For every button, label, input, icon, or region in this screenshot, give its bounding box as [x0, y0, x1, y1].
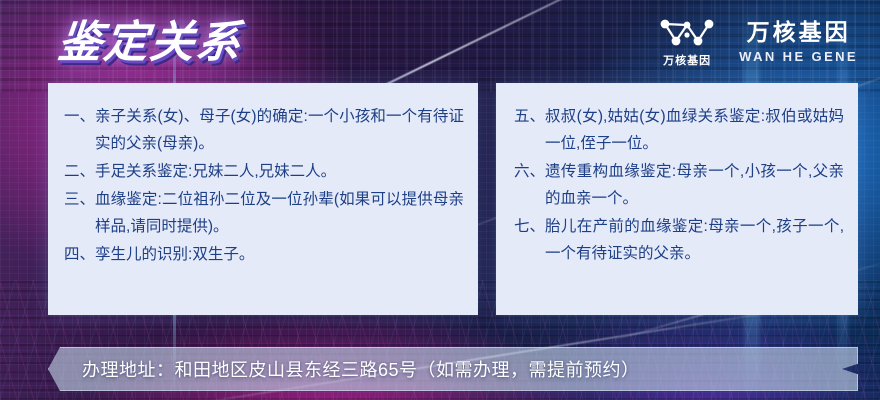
address-text: 办理地址：和田地区皮山县东经三路65号（如需办理，需提前预约） [82, 347, 640, 391]
list-item-text: 胎儿在产前的血缘鉴定:母亲一个,孩子一个,一个有待证实的父亲。 [545, 213, 844, 267]
list-item-number: 五、 [514, 103, 545, 157]
list-item-text: 孪生儿的识别:双生子。 [95, 241, 464, 268]
list-item-text: 叔叔(女),姑姑(女)血绿关系鉴定:叔伯或姑妈一位,侄子一位。 [545, 103, 844, 157]
service-list-right: 五、叔叔(女),姑姑(女)血绿关系鉴定:叔伯或姑妈一位,侄子一位。六、遗传重构血… [496, 83, 858, 267]
list-item-text: 血缘鉴定:二位祖孙二位及一位孙辈(如果可以提供母亲样品,请同时提供)。 [95, 186, 464, 240]
list-item-number: 七、 [514, 213, 545, 267]
list-item-text: 亲子关系(女)、母子(女)的确定:一个小孩和一个有待证实的父亲(母亲)。 [95, 103, 464, 157]
service-list-left: 一、亲子关系(女)、母子(女)的确定:一个小孩和一个有待证实的父亲(母亲)。二、… [48, 83, 478, 268]
list-item-number: 二、 [64, 158, 95, 185]
brand-name-cn: 万核基因 [747, 21, 851, 44]
molecule-network-icon [657, 16, 717, 50]
list-item: 一、亲子关系(女)、母子(女)的确定:一个小孩和一个有待证实的父亲(母亲)。 [64, 103, 464, 157]
brand-wordmark: 万核基因 WAN HE GENE [739, 21, 858, 63]
logo-mark: 万核基因 [657, 16, 717, 68]
list-item: 四、孪生儿的识别:双生子。 [64, 241, 464, 268]
brand-logo: 万核基因 万核基因 WAN HE GENE [657, 16, 858, 68]
list-item: 二、手足关系鉴定:兄妹二人,兄妹二人。 [64, 158, 464, 185]
poster-canvas: 鉴定关系 万核基因 [0, 0, 880, 400]
list-item: 五、叔叔(女),姑姑(女)血绿关系鉴定:叔伯或姑妈一位,侄子一位。 [514, 103, 844, 157]
page-title: 鉴定关系 [55, 14, 245, 72]
brand-name-en: WAN HE GENE [739, 50, 858, 63]
logo-mark-label: 万核基因 [663, 52, 711, 68]
list-item-number: 三、 [64, 186, 95, 240]
list-item: 三、血缘鉴定:二位祖孙二位及一位孙辈(如果可以提供母亲样品,请同时提供)。 [64, 186, 464, 240]
list-item: 七、胎儿在产前的血缘鉴定:母亲一个,孩子一个,一个有待证实的父亲。 [514, 213, 844, 267]
services-panel-left: 一、亲子关系(女)、母子(女)的确定:一个小孩和一个有待证实的父亲(母亲)。二、… [48, 83, 478, 315]
list-item: 六、遗传重构血缘鉴定:母亲一个,小孩一个,父亲的血亲一个。 [514, 158, 844, 212]
services-panel-right: 五、叔叔(女),姑姑(女)血绿关系鉴定:叔伯或姑妈一位,侄子一位。六、遗传重构血… [496, 83, 858, 315]
list-item-text: 遗传重构血缘鉴定:母亲一个,小孩一个,父亲的血亲一个。 [545, 158, 844, 212]
list-item-text: 手足关系鉴定:兄妹二人,兄妹二人。 [95, 158, 464, 185]
list-item-number: 四、 [64, 241, 95, 268]
list-item-number: 六、 [514, 158, 545, 212]
address-banner: 办理地址：和田地区皮山县东经三路65号（如需办理，需提前预约） [48, 347, 858, 391]
list-item-number: 一、 [64, 103, 95, 157]
